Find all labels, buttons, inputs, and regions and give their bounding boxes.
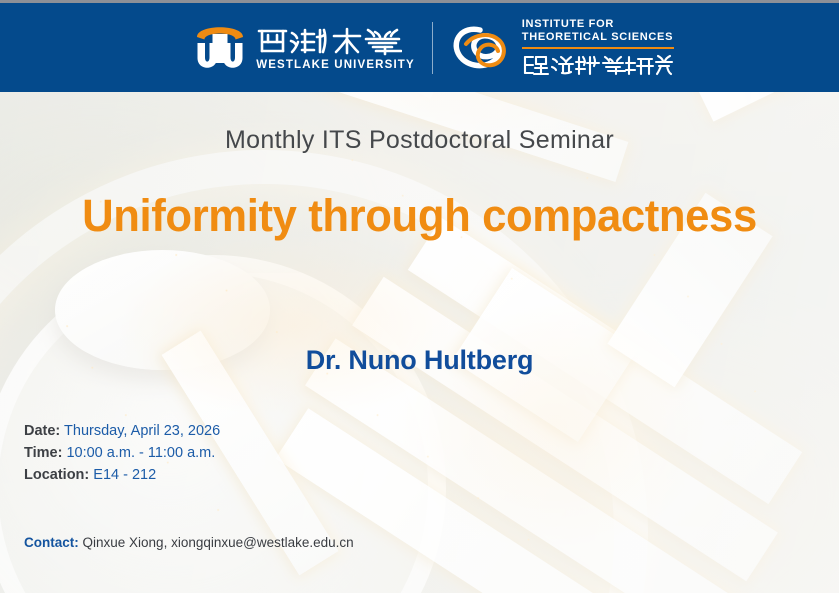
detail-row-time: Time: 10:00 a.m. - 11:00 a.m. [24, 442, 220, 464]
date-label: Date: [24, 423, 60, 439]
its-infinity-loop-icon [450, 20, 512, 76]
seminar-title: Uniformity through compactness [13, 190, 827, 242]
top-hairline [0, 0, 839, 3]
poster-content: Monthly ITS Postdoctoral Seminar Uniform… [0, 92, 839, 593]
seminar-series-kicker: Monthly ITS Postdoctoral Seminar [0, 126, 839, 155]
location-label: Location: [24, 467, 89, 483]
its-wordmark: INSTITUTE FOR THEORETICAL SCIENCES [522, 18, 674, 77]
westlake-english-name: WESTLAKE UNIVERSITY [256, 59, 415, 71]
its-english-line-2: THEORETICAL SCIENCES [522, 31, 674, 44]
seminar-poster: WESTLAKE UNIVERSITY INSTITUTE FOR THEORE… [0, 0, 839, 593]
event-details: Date: Thursday, April 23, 2026 Time: 10:… [24, 420, 220, 486]
institute-theoretical-sciences-logo: INSTITUTE FOR THEORETICAL SCIENCES [450, 18, 674, 77]
westlake-wu-mark-icon [193, 20, 247, 76]
detail-row-location: Location: E14 - 212 [24, 464, 220, 486]
detail-row-date: Date: Thursday, April 23, 2026 [24, 420, 220, 442]
contact-label: Contact: [24, 535, 79, 550]
speaker-name: Dr. Nuno Hultberg [0, 345, 839, 376]
logo-divider [432, 22, 433, 74]
time-value: 10:00 a.m. - 11:00 a.m. [66, 445, 215, 461]
westlake-wordmark: WESTLAKE UNIVERSITY [256, 25, 415, 71]
contact-value: Qinxue Xiong, xiongqinxue@westlake.edu.c… [83, 535, 354, 550]
contact-line: Contact: Qinxue Xiong, xiongqinxue@westl… [24, 535, 354, 550]
date-value: Thursday, April 23, 2026 [64, 423, 220, 439]
westlake-chinese-name-glyphs [256, 25, 402, 58]
header-band: WESTLAKE UNIVERSITY INSTITUTE FOR THEORE… [0, 3, 839, 92]
its-rule-divider [522, 47, 674, 49]
logo-lockup: WESTLAKE UNIVERSITY INSTITUTE FOR THEORE… [193, 18, 674, 77]
location-value: E14 - 212 [93, 467, 156, 483]
time-label: Time: [24, 445, 62, 461]
westlake-university-logo: WESTLAKE UNIVERSITY [193, 20, 415, 76]
its-english-line-1: INSTITUTE FOR [522, 18, 674, 31]
its-chinese-name-glyphs [522, 53, 674, 77]
